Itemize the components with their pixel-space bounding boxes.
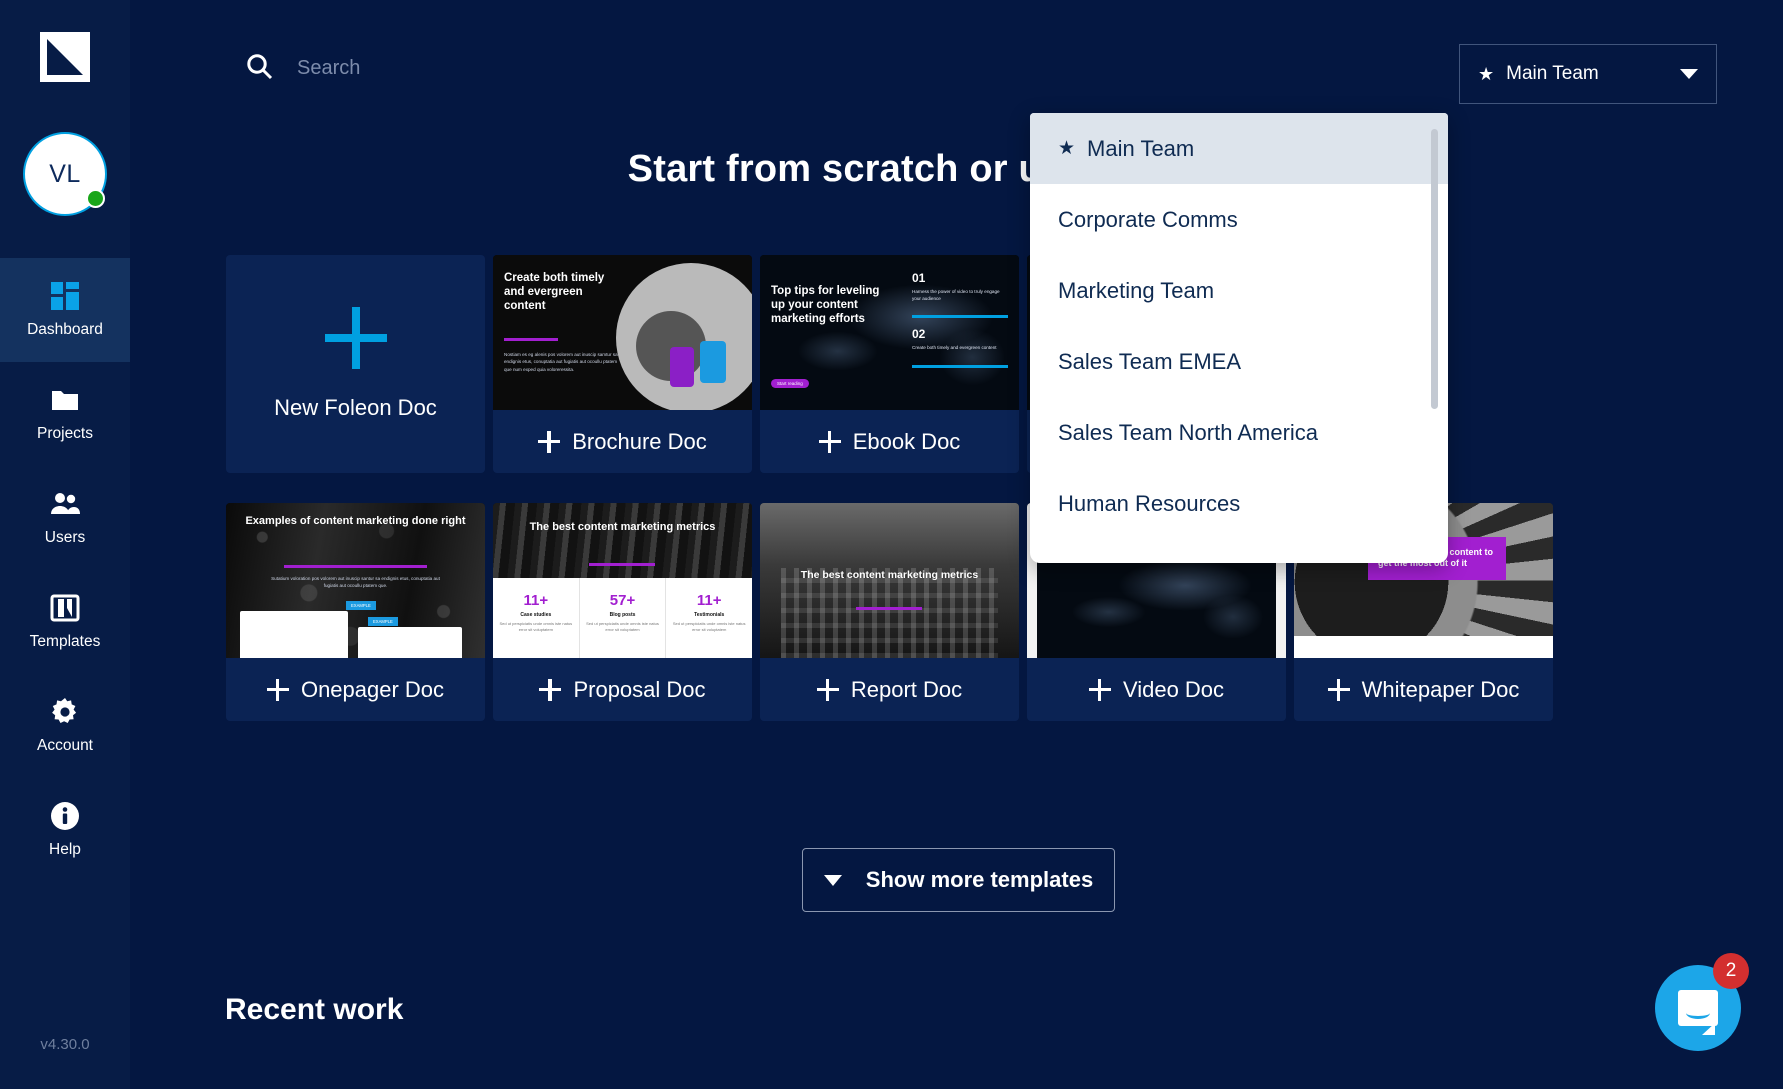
thumb-title: Create both timely and evergreen content	[504, 271, 624, 313]
team-select-label: Main Team	[1506, 63, 1599, 85]
show-more-templates-button[interactable]: Show more templates	[802, 848, 1115, 912]
template-card-label-row: Onepager Doc	[267, 658, 444, 721]
sidebar-item-label: Help	[49, 841, 81, 859]
chat-unread-badge: 2	[1713, 953, 1749, 989]
star-icon: ★	[1058, 137, 1075, 160]
team-dropdown-menu[interactable]: ★ Main Team Corporate Comms Marketing Te…	[1030, 113, 1448, 563]
template-card-label: Video Doc	[1123, 677, 1224, 703]
dropdown-scrollbar[interactable]	[1436, 121, 1443, 555]
template-card-label: Report Doc	[851, 677, 962, 703]
avatar[interactable]: VL	[23, 132, 107, 216]
thumb-stat-value: 11+	[493, 592, 579, 609]
thumb-title: The best content marketing metrics	[760, 569, 1019, 582]
thumb-stat-label: Blog posts	[580, 612, 666, 618]
template-thumbnail: The best content marketing metrics	[760, 503, 1019, 658]
thumb-stat-body: Sed ut perspiciatis unde omnis iste natu…	[666, 621, 752, 633]
thumb-stat-label: Case studies	[493, 612, 579, 618]
gear-icon	[50, 697, 80, 727]
foleon-logo-icon[interactable]	[40, 32, 90, 82]
recent-work-heading: Recent work	[225, 993, 403, 1027]
template-thumbnail: The best content marketing metrics 11+ C…	[493, 503, 752, 658]
plus-icon	[267, 679, 289, 701]
template-card-ebook[interactable]: Top tips for leveling up your content ma…	[760, 255, 1019, 473]
show-more-templates-label: Show more templates	[866, 867, 1093, 893]
team-option-corporate-comms[interactable]: Corporate Comms	[1030, 184, 1448, 255]
template-card-label: Proposal Doc	[573, 677, 705, 703]
app-root: VL Dashboard Projects Users	[0, 0, 1783, 1089]
thumb-tag: EXAMPLE	[346, 601, 376, 610]
team-option-label: Sales Team North America	[1058, 420, 1318, 446]
thumb-stat-body: Sed ut perspiciatis unde omnis iste natu…	[493, 621, 579, 633]
new-doc-label: New Foleon Doc	[274, 395, 437, 421]
team-option-sales-team-emea[interactable]: Sales Team EMEA	[1030, 326, 1448, 397]
team-option-label: Human Resources	[1058, 491, 1240, 517]
thumb-tag: EXAMPLE	[368, 617, 398, 626]
folder-icon	[50, 385, 80, 415]
template-card-label-row: Ebook Doc	[819, 410, 961, 473]
team-option-marketing-team[interactable]: Marketing Team	[1030, 255, 1448, 326]
template-thumbnail: Create both timely and evergreen content…	[493, 255, 752, 410]
sidebar-item-help[interactable]: Help	[0, 778, 130, 882]
thumb-title: Examples of content marketing done right	[226, 515, 485, 529]
sidebar-item-label: Users	[45, 529, 85, 547]
thumb-item-text: Harness the power of video to truly enga…	[912, 288, 1008, 303]
template-card-label: Whitepaper Doc	[1362, 677, 1520, 703]
plus-icon	[1089, 679, 1111, 701]
sidebar: VL Dashboard Projects Users	[0, 0, 130, 1089]
plus-icon	[1328, 679, 1350, 701]
team-option-sales-team-north-america[interactable]: Sales Team North America	[1030, 397, 1448, 468]
thumb-item-number: 01	[912, 271, 925, 285]
dashboard-icon	[50, 281, 80, 311]
users-icon	[50, 489, 80, 519]
plus-icon	[539, 679, 561, 701]
chevron-down-icon	[1680, 69, 1698, 79]
template-grid: New Foleon Doc Create both timely and ev…	[226, 255, 1698, 751]
team-option-label: Marketing Team	[1058, 278, 1214, 304]
team-option-label: Sales Team EMEA	[1058, 349, 1241, 375]
plus-icon	[538, 431, 560, 453]
template-card-label: Brochure Doc	[572, 429, 707, 455]
thumb-title: Top tips for leveling up your content ma…	[771, 285, 891, 326]
thumb-item-number: 02	[912, 327, 925, 341]
template-card-label-row: Video Doc	[1089, 658, 1224, 721]
sidebar-item-projects[interactable]: Projects	[0, 362, 130, 466]
team-option-human-resources[interactable]: Human Resources	[1030, 468, 1448, 539]
dropdown-scrollbar-thumb[interactable]	[1431, 129, 1438, 409]
info-icon	[50, 801, 80, 831]
new-foleon-doc-card[interactable]: New Foleon Doc	[226, 255, 485, 473]
plus-icon	[325, 307, 387, 369]
plus-icon	[817, 679, 839, 701]
templates-icon	[50, 593, 80, 623]
template-card-label: Ebook Doc	[853, 429, 961, 455]
sidebar-item-users[interactable]: Users	[0, 466, 130, 570]
thumb-pill: Start reading	[771, 379, 809, 388]
template-card-brochure[interactable]: Create both timely and evergreen content…	[493, 255, 752, 473]
search-icon	[245, 52, 273, 85]
template-card-report[interactable]: The best content marketing metrics Repor…	[760, 503, 1019, 721]
thumb-title: The best content marketing metrics	[493, 521, 752, 535]
template-card-label: Onepager Doc	[301, 677, 444, 703]
sidebar-item-label: Templates	[30, 633, 101, 651]
search-bar[interactable]	[245, 52, 717, 85]
sidebar-item-label: Account	[37, 737, 93, 755]
thumb-stat-value: 57+	[580, 592, 666, 609]
team-dropdown-list: ★ Main Team Corporate Comms Marketing Te…	[1030, 113, 1448, 563]
sidebar-item-templates[interactable]: Templates	[0, 570, 130, 674]
template-thumbnail: Examples of content marketing done right…	[226, 503, 485, 658]
team-option-main-team[interactable]: ★ Main Team	[1030, 113, 1448, 184]
template-thumbnail: Top tips for leveling up your content ma…	[760, 255, 1019, 410]
chat-icon	[1678, 990, 1718, 1026]
thumb-stat-body: Sed ut perspiciatis unde omnis iste natu…	[580, 621, 666, 633]
sidebar-item-label: Dashboard	[27, 321, 103, 339]
template-card-label-row: Brochure Doc	[538, 410, 707, 473]
template-card-label-row: Report Doc	[817, 658, 962, 721]
smile-icon	[1686, 1007, 1710, 1019]
template-card-label-row: Proposal Doc	[539, 658, 705, 721]
team-option-label: Main Team	[1087, 136, 1194, 162]
presence-online-icon	[86, 189, 105, 208]
chevron-down-icon	[824, 875, 842, 886]
thumb-body: Nostiam es eg alenis pos volorem aut inu…	[504, 351, 626, 373]
thumb-stat-value: 11+	[666, 592, 752, 609]
search-input[interactable]	[297, 57, 717, 80]
team-option-label: Corporate Comms	[1058, 207, 1238, 233]
star-icon: ★	[1478, 64, 1494, 85]
template-card-label-row: Whitepaper Doc	[1328, 658, 1520, 721]
plus-icon	[819, 431, 841, 453]
thumb-stat-label: Testimonials	[666, 612, 752, 618]
template-card-onepager[interactable]: Examples of content marketing done right…	[226, 503, 485, 721]
sidebar-nav: Dashboard Projects Users Templates	[0, 258, 130, 882]
sidebar-item-dashboard[interactable]: Dashboard	[0, 258, 130, 362]
team-select-button[interactable]: ★ Main Team	[1459, 44, 1717, 104]
thumb-item-text: Create both timely and evergreen content	[912, 344, 1008, 351]
sidebar-item-label: Projects	[37, 425, 93, 443]
sidebar-item-account[interactable]: Account	[0, 674, 130, 778]
app-version: v4.30.0	[0, 1036, 130, 1053]
page-title: Start from scratch or use a template	[130, 148, 1783, 191]
template-card-proposal[interactable]: The best content marketing metrics 11+ C…	[493, 503, 752, 721]
thumb-body: Sutatium voloration pos volorem aut inus…	[270, 575, 441, 590]
